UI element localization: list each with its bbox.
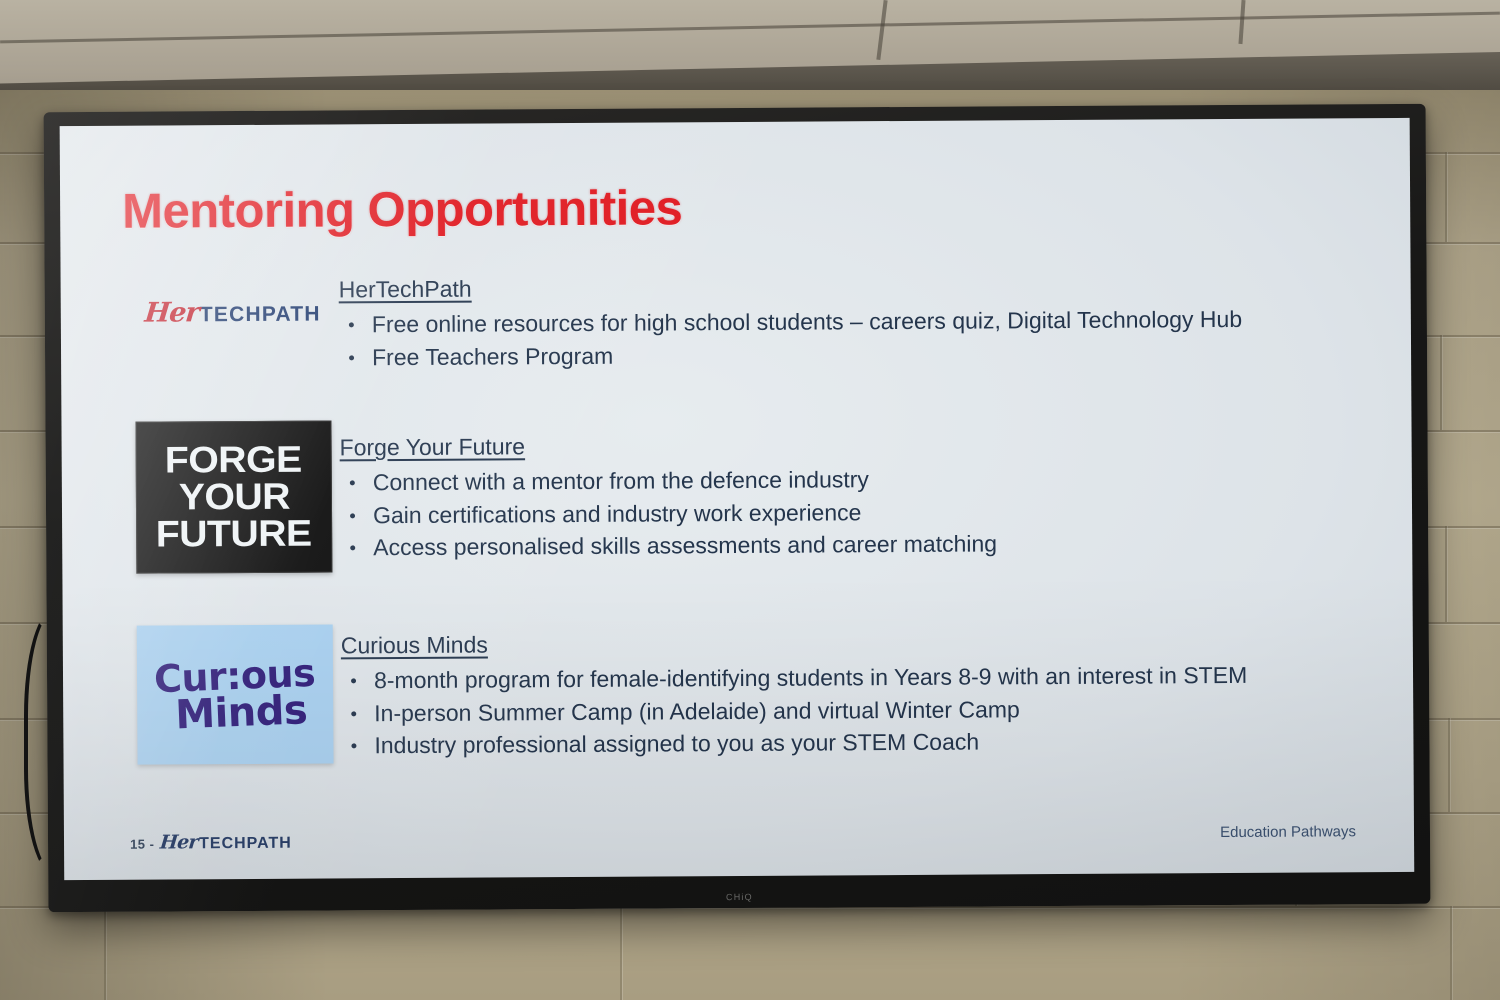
television[interactable]: CHiQ Mentoring Opportunities Her TECHPAT… bbox=[44, 104, 1431, 912]
tv-screen[interactable]: Mentoring Opportunities Her TECHPATH Her… bbox=[60, 118, 1415, 880]
logo-line: Minds bbox=[175, 690, 308, 735]
presentation-slide: Mentoring Opportunities Her TECHPATH Her… bbox=[60, 118, 1415, 880]
footer-hertechpath-logo: Her TECHPATH bbox=[160, 831, 292, 854]
slide-title: Mentoring Opportunities bbox=[122, 180, 682, 239]
logo-cell: Cur:ous Minds bbox=[129, 624, 342, 764]
ceiling-tile-seam bbox=[1238, 0, 1245, 44]
logo-line: YOUR bbox=[178, 479, 289, 516]
section-text: HerTechPath Free online resources for hi… bbox=[339, 269, 1243, 375]
bullet-item: In-person Summer Camp (in Adelaide) and … bbox=[341, 692, 1247, 728]
forge-your-future-logo: FORGE YOUR FUTURE bbox=[135, 420, 332, 573]
curious-minds-logo: Cur:ous Minds bbox=[137, 624, 334, 764]
section-text: Curious Minds 8-month program for female… bbox=[341, 619, 1248, 764]
bullet-item: Connect with a mentor from the defence i… bbox=[340, 463, 997, 498]
section-heading-forge-your-future: Forge Your Future bbox=[340, 430, 997, 461]
bullet-list-curious-minds: 8-month program for female-identifying s… bbox=[341, 660, 1248, 761]
slide-footer-left: 15 - Her TECHPATH bbox=[130, 831, 292, 854]
bullet-item: Gain certifications and industry work ex… bbox=[340, 496, 997, 531]
logo-line: FORGE bbox=[165, 442, 302, 479]
bullet-list-forge-your-future: Connect with a mentor from the defence i… bbox=[340, 463, 997, 563]
logo-cell: Her TECHPATH bbox=[127, 274, 340, 375]
logo-cell: FORGE YOUR FUTURE bbox=[127, 420, 340, 573]
ceiling-tile-seam bbox=[0, 12, 1500, 44]
bullet-item: Free online resources for high school st… bbox=[339, 304, 1242, 340]
section-heading-hertechpath: HerTechPath bbox=[339, 271, 1242, 304]
ceiling-tile-seam bbox=[876, 0, 887, 60]
bullet-item: Free Teachers Program bbox=[339, 336, 1242, 372]
logo-line: FUTURE bbox=[156, 516, 312, 553]
room-scene: CHiQ Mentoring Opportunities Her TECHPAT… bbox=[0, 0, 1500, 1000]
section-heading-curious-minds: Curious Minds bbox=[341, 627, 1247, 660]
hertechpath-logo: Her TECHPATH bbox=[145, 297, 321, 329]
section-forge-your-future: FORGE YOUR FUTURE Forge Your Future Conn… bbox=[127, 416, 997, 573]
bullet-list-hertechpath: Free online resources for high school st… bbox=[339, 304, 1243, 373]
logo-block-text: TECHPATH bbox=[199, 835, 292, 854]
logo-block-text: TECHPATH bbox=[200, 303, 321, 328]
bullet-item: Industry professional assigned to you as… bbox=[341, 725, 1247, 761]
logo-script-text: Her bbox=[143, 297, 200, 328]
bullet-item: 8-month program for female-identifying s… bbox=[341, 660, 1247, 696]
tv-brand-label: CHiQ bbox=[726, 892, 753, 902]
bullet-item: Access personalised skills assessments a… bbox=[340, 529, 997, 564]
section-curious-minds: Cur:ous Minds Curious Minds 8-month prog… bbox=[129, 619, 1248, 765]
section-text: Forge Your Future Connect with a mentor … bbox=[339, 416, 997, 572]
slide-footer-right: Education Pathways bbox=[1220, 823, 1356, 841]
slide-number: 15 - bbox=[130, 837, 154, 852]
logo-script-text: Her bbox=[159, 831, 199, 853]
section-hertechpath: Her TECHPATH HerTechPath Free online res… bbox=[127, 269, 1243, 376]
